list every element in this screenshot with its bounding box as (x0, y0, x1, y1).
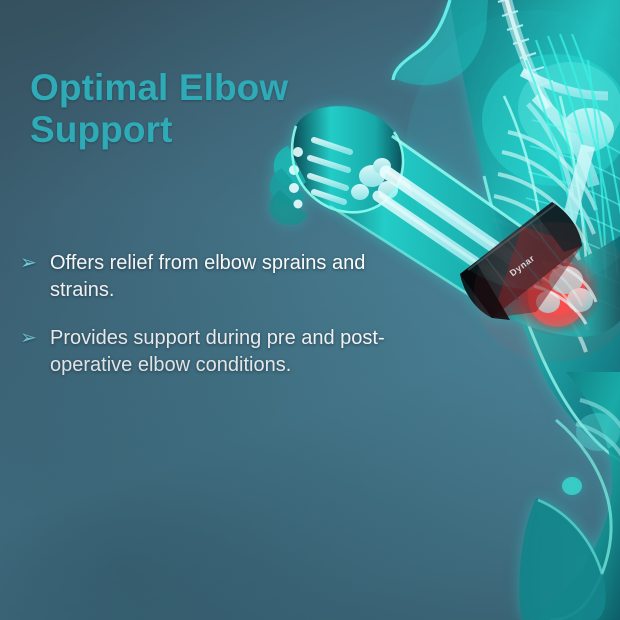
arrow-bullet-icon: ➢ (16, 325, 50, 352)
page-title: Optimal Elbow Support (30, 67, 360, 151)
bullet-text: Offers relief from elbow sprains and str… (50, 250, 395, 304)
arrow-bullet-icon: ➢ (16, 250, 50, 277)
bullet-text: Provides support during pre and post-ope… (50, 325, 395, 379)
list-item: ➢ Provides support during pre and post-o… (16, 325, 416, 379)
bullet-list: ➢ Offers relief from elbow sprains and s… (16, 250, 416, 379)
title-line-1: Optimal Elbow (30, 67, 288, 108)
slide-canvas: Dynar (0, 0, 620, 620)
list-item: ➢ Offers relief from elbow sprains and s… (16, 250, 416, 304)
title-line-2: Support (30, 109, 360, 151)
